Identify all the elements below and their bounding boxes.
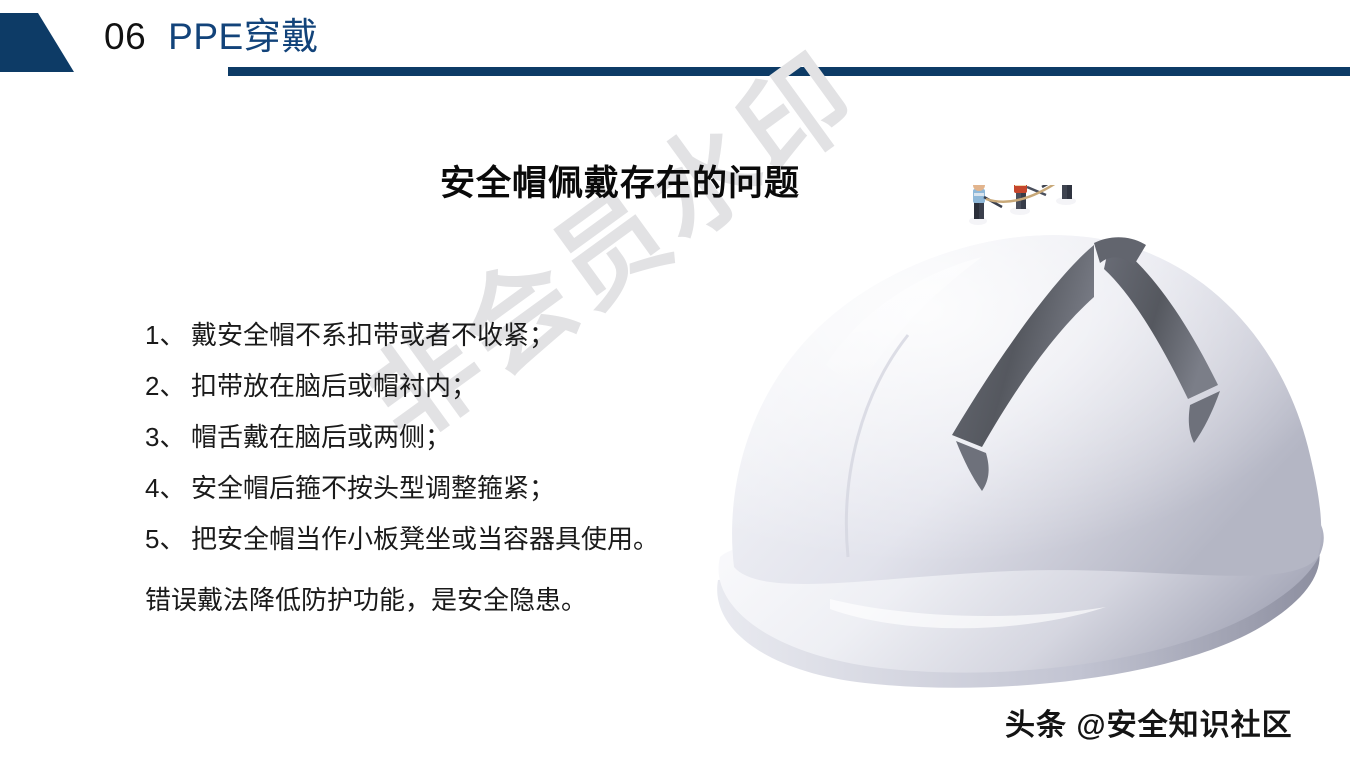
list-item: 5、 把安全帽当作小板凳坐或当容器具使用。 bbox=[145, 526, 765, 577]
list-item: 4、 安全帽后箍不按头型调整箍紧； bbox=[145, 475, 765, 526]
list-item-label: 把安全帽当作小板凳坐或当容器具使用。 bbox=[191, 526, 659, 552]
page-title: 安全帽佩戴存在的问题 bbox=[0, 155, 1240, 206]
safety-helmet-photo bbox=[690, 185, 1350, 695]
list-item-marker: 4、 bbox=[145, 475, 191, 501]
list-item-label: 扣带放在脑后或帽衬内； bbox=[191, 373, 477, 399]
list-item-marker: 1、 bbox=[145, 322, 191, 348]
section-label: PPE穿戴 bbox=[168, 18, 319, 55]
section-title: 06 PPE穿戴 bbox=[104, 8, 319, 64]
list-item-marker: 5、 bbox=[145, 526, 191, 552]
slide-canvas: 06 PPE穿戴 bbox=[0, 0, 1350, 759]
list-item: 3、 帽舌戴在脑后或两侧； bbox=[145, 424, 765, 475]
horizontal-rule-icon bbox=[228, 67, 1350, 76]
closing-statement: 错误戴法降低防护功能，是安全隐患。 bbox=[145, 580, 587, 617]
list-item-marker: 2、 bbox=[145, 373, 191, 399]
list-item: 2、 扣带放在脑后或帽衬内； bbox=[145, 373, 765, 424]
slide-header: 06 PPE穿戴 bbox=[0, 0, 1350, 90]
section-number: 06 bbox=[104, 18, 146, 55]
list-item-label: 帽舌戴在脑后或两侧； bbox=[191, 424, 451, 450]
angled-tab-shape-icon bbox=[0, 13, 75, 72]
list-item-marker: 3、 bbox=[145, 424, 191, 450]
list-item-label: 安全帽后箍不按头型调整箍紧； bbox=[191, 475, 555, 501]
attribution-watermark: 头条 @安全知识社区 bbox=[1005, 700, 1293, 744]
list-item: 1、 戴安全帽不系扣带或者不收紧； bbox=[145, 322, 765, 373]
problem-list: 1、 戴安全帽不系扣带或者不收紧； 2、 扣带放在脑后或帽衬内； 3、 帽舌戴在… bbox=[145, 322, 765, 577]
list-item-label: 戴安全帽不系扣带或者不收紧； bbox=[191, 322, 555, 348]
